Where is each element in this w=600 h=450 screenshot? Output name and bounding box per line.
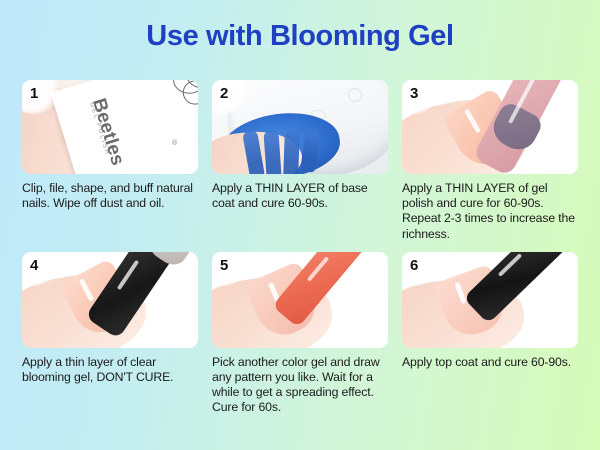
step-image-5: 5 — [212, 252, 388, 348]
page-title: Use with Blooming Gel — [0, 20, 600, 53]
step-image-4: 4 — [22, 252, 198, 348]
step-image-2: 2 — [212, 80, 388, 174]
step-card-2: 2 Apply a THIN LAYER of base coat and cu… — [212, 80, 388, 242]
step-image-3: 3 — [402, 80, 578, 174]
step-card-3: 3 Apply a THIN LAYER of gel polish and c… — [402, 80, 578, 242]
scene-color-gel-brush — [212, 252, 388, 348]
step-caption-1: Clip, file, shape, and buff natural nail… — [22, 181, 198, 211]
instruction-poster: Use with Blooming Gel Beetles GEL POLISH… — [0, 0, 600, 450]
scene-top-coat-brush — [402, 252, 578, 348]
step-caption-3: Apply a THIN LAYER of gel polish and cur… — [402, 181, 578, 242]
scene-beetles-card: Beetles GEL POLISH ® — [22, 80, 198, 174]
finger-shape — [283, 130, 300, 174]
step-caption-2: Apply a THIN LAYER of base coat and cure… — [212, 181, 388, 211]
step-image-6: 6 — [402, 252, 578, 348]
step-card-5: 5 Pick another color gel and draw any pa… — [212, 252, 388, 416]
step-caption-5: Pick another color gel and draw any patt… — [212, 355, 388, 416]
step-card-4: 4 Apply a thin layer of clear blooming g… — [22, 252, 198, 416]
lamp-button-icon — [348, 88, 362, 102]
step-caption-4: Apply a thin layer of clear blooming gel… — [22, 355, 198, 385]
scene-blooming-gel-brush — [22, 252, 198, 348]
steps-grid: Beetles GEL POLISH ® 1 Clip, file, shape… — [22, 80, 578, 416]
step-caption-6: Apply top coat and cure 60-90s. — [402, 355, 578, 370]
scene-gel-polish-brush — [402, 80, 578, 174]
registered-mark: ® — [172, 140, 177, 147]
step-card-1: Beetles GEL POLISH ® 1 Clip, file, shape… — [22, 80, 198, 242]
scene-uv-lamp — [212, 80, 388, 174]
step-image-1: Beetles GEL POLISH ® 1 — [22, 80, 198, 174]
step-card-6: 6 Apply top coat and cure 60-90s. — [402, 252, 578, 416]
